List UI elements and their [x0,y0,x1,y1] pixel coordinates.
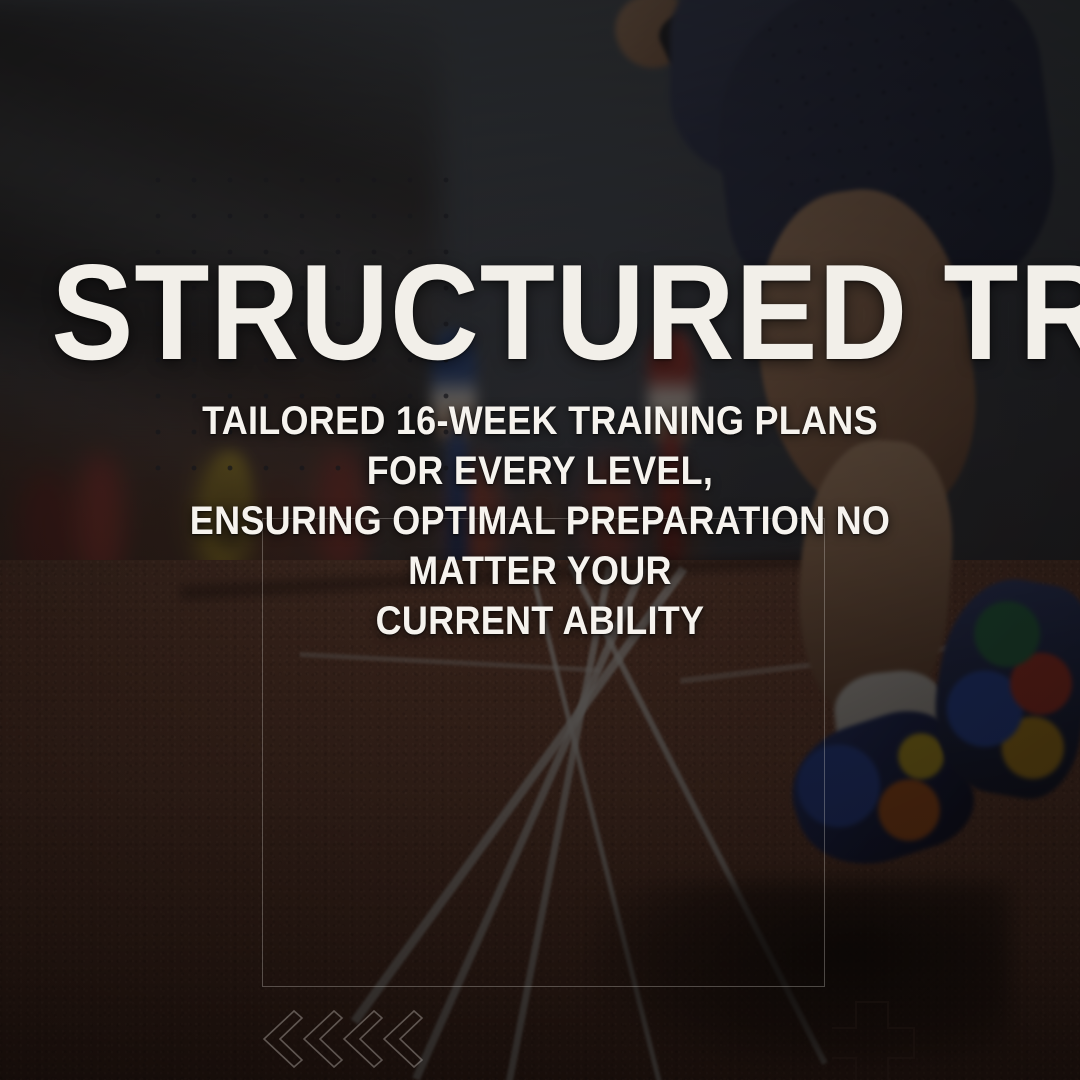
poster-canvas: STRUCTURED TRAINING TAILORED 16-WEEK TRA… [0,0,1080,1080]
subheadline-line-3: CURRENT ABILITY [171,596,909,646]
page-title: STRUCTURED TRAINING [51,249,1028,375]
plus-cross-icon [832,1000,942,1080]
subheadline-line-1: TAILORED 16-WEEK TRAINING PLANS FOR EVER… [171,396,909,496]
subheadline-line-2: ENSURING OPTIMAL PREPARATION NO MATTER Y… [171,496,909,596]
subheadline: TAILORED 16-WEEK TRAINING PLANS FOR EVER… [171,396,909,646]
cross-group [832,1000,942,1080]
chevron-left-icon [258,1008,438,1070]
chevron-group [258,1008,438,1070]
